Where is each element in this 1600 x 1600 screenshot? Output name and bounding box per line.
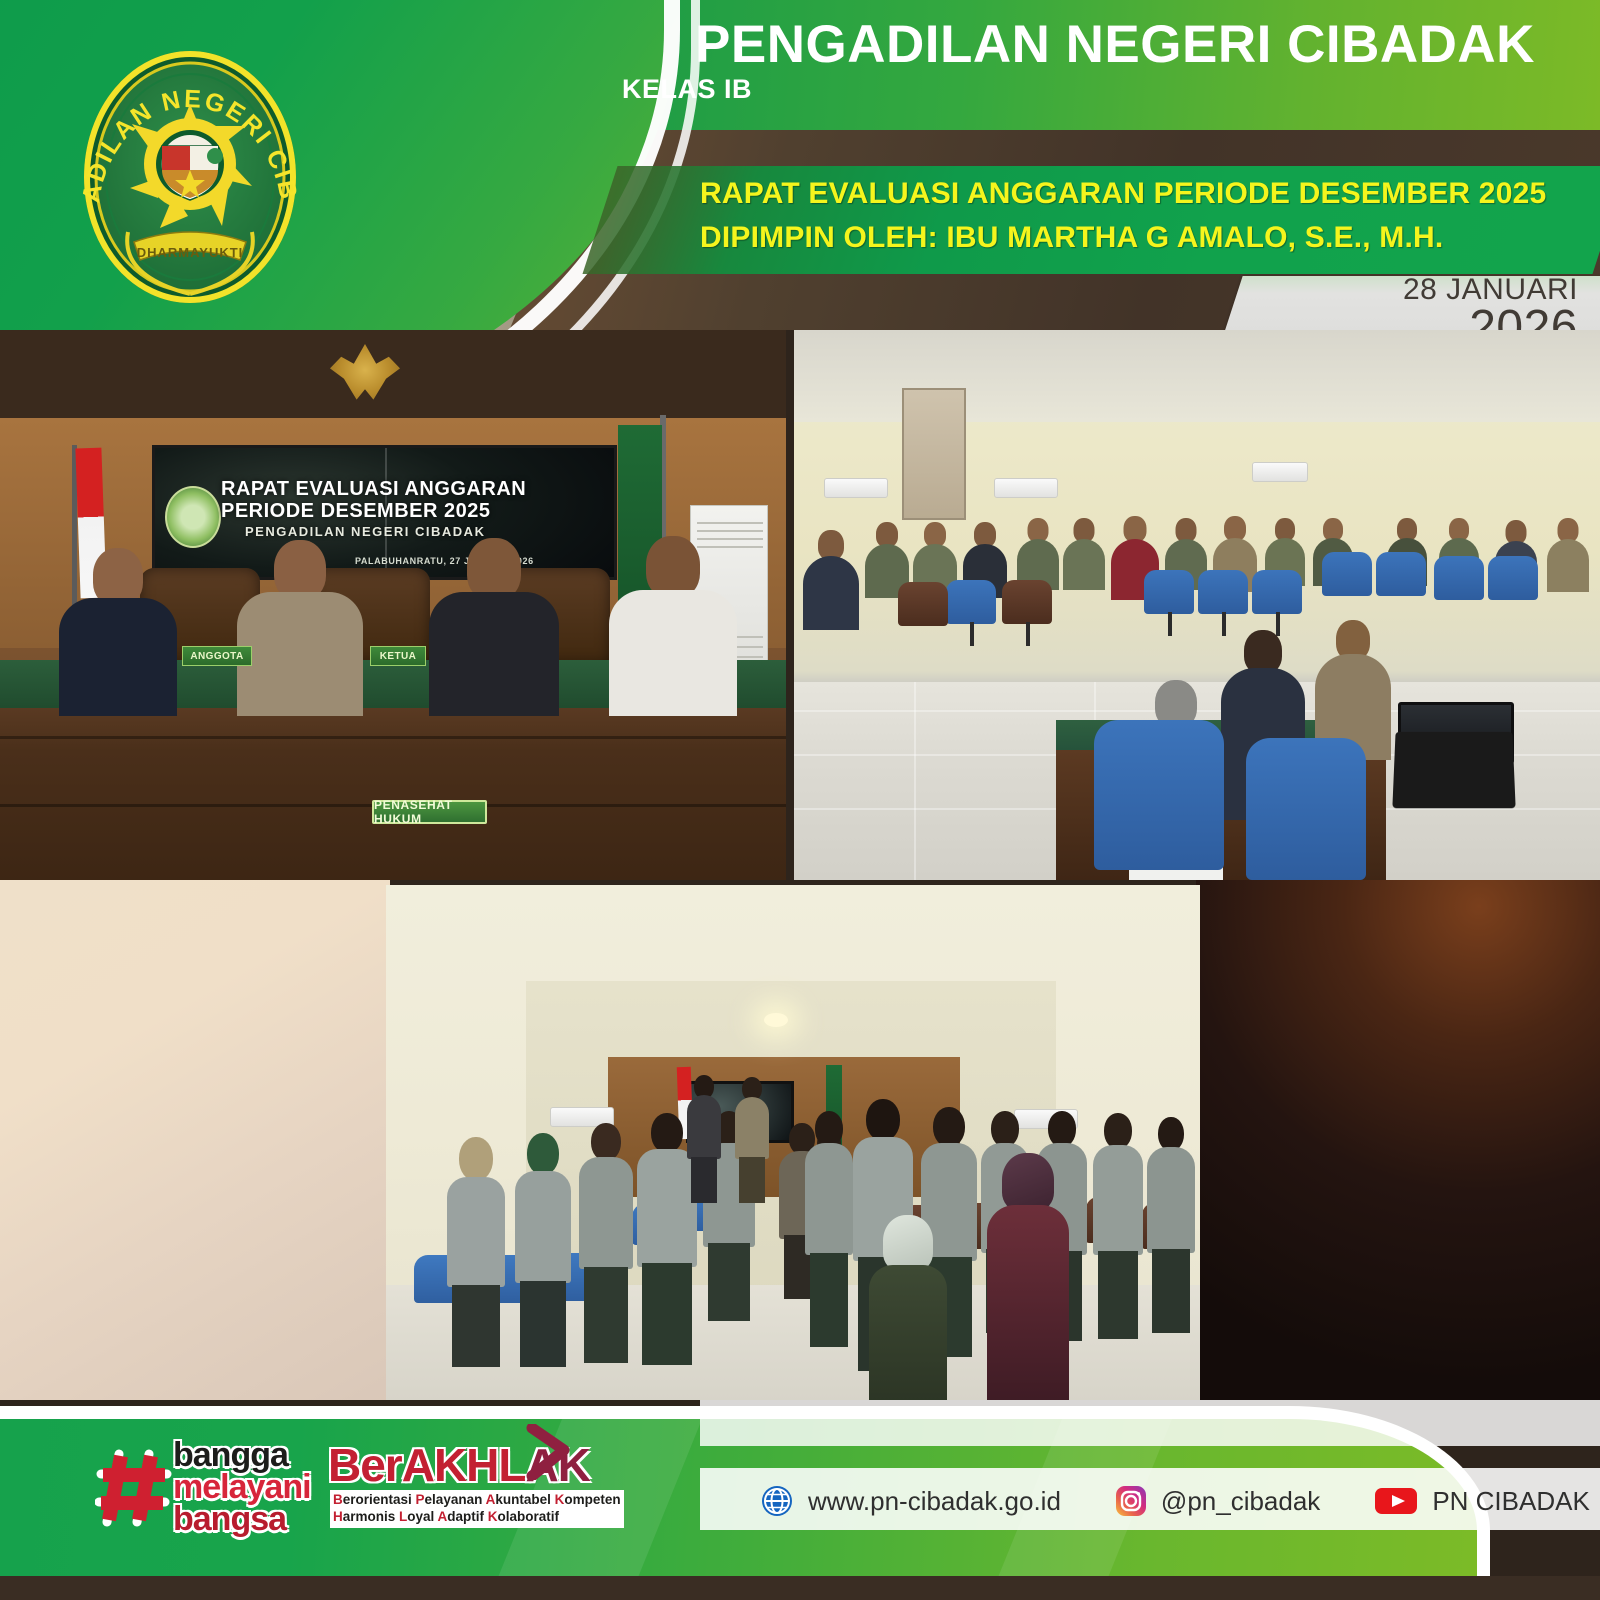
berakhlak-tagline: Berorientasi Pelayanan Akuntabel Kompete…	[330, 1490, 624, 1528]
bangga-line-2: melayani	[173, 1470, 311, 1504]
website-url: www.pn-cibadak.go.id	[808, 1486, 1061, 1517]
audience-photo	[794, 330, 1600, 880]
photo3-ceiling-light	[764, 1013, 788, 1027]
photo2-ac-unit-mid	[994, 478, 1058, 498]
nameplate-ketua: KETUA	[370, 646, 426, 666]
photo1-person-1	[58, 548, 178, 712]
photo-collage: RAPAT EVALUASI ANGGARAN PERIODE DESEMBER…	[0, 330, 1600, 1410]
hashtag-icon	[95, 1448, 175, 1528]
screen-emblem-icon	[165, 486, 221, 548]
photo3-hijab-person-maroon	[986, 1153, 1070, 1407]
berakhlak-tagline-line1: Berorientasi Pelayanan Akuntabel Kompete…	[333, 1492, 621, 1509]
footer-bottom-bar	[0, 1576, 1600, 1600]
contact-instagram[interactable]: @pn_cibadak	[1115, 1485, 1320, 1517]
screen-title-line1: RAPAT EVALUASI ANGGARAN	[221, 478, 621, 501]
screen-org-name: PENGADILAN NEGERI CIBADAK	[245, 524, 625, 539]
panel-table-photo: RAPAT EVALUASI ANGGARAN PERIODE DESEMBER…	[0, 330, 786, 880]
svg-text:DHARMAYUKTI: DHARMAYUKTI	[137, 245, 244, 260]
event-banner: RAPAT EVALUASI ANGGARAN PERIODE DESEMBER…	[700, 172, 1600, 259]
dharmayukti-banner: DHARMAYUKTI	[134, 232, 246, 260]
page-title: PENGADILAN NEGERI CIBADAK	[635, 18, 1595, 71]
bangga-line-1: bangga	[173, 1438, 288, 1472]
blurred-left-filler	[0, 880, 390, 1410]
globe-icon	[760, 1484, 794, 1518]
bangga-melayani-bangsa-logo: bangga melayani bangsa	[95, 1430, 310, 1545]
photo1-person-4	[608, 536, 738, 712]
photo1-desk-front	[0, 708, 786, 880]
photo2-ac-unit-right	[1252, 462, 1308, 482]
court-emblem-logo: PENGADILAN NEGERI CIBADAK	[76, 46, 304, 308]
page-subtitle: KELAS IB	[622, 74, 752, 105]
event-leader: DIPIMPIN OLEH: IBU MARTHA G AMALO, S.E.,…	[700, 216, 1600, 260]
blurred-right-filler	[1196, 880, 1600, 1410]
screen-title-line2: PERIODE DESEMBER 2025	[221, 500, 621, 523]
footer-contacts: www.pn-cibadak.go.id @pn_cibadak	[760, 1478, 1600, 1524]
photo3-hijab-person-white	[868, 1215, 948, 1410]
nameplate-penasehat-hukum: PENASEHAT HUKUM	[372, 800, 487, 824]
contact-youtube[interactable]: PN CIBADAK	[1374, 1485, 1590, 1517]
youtube-channel: PN CIBADAK	[1432, 1486, 1590, 1517]
contact-website[interactable]: www.pn-cibadak.go.id	[760, 1484, 1061, 1518]
photo2-foreground-chair-2	[1246, 738, 1366, 880]
photo2-foreground-chair	[1094, 720, 1224, 870]
photo2-ac-unit-left	[824, 478, 888, 498]
photo2-door	[902, 388, 966, 520]
footer-glass-band-top	[700, 1400, 1600, 1446]
standing-audience-photo	[386, 885, 1200, 1410]
event-title: RAPAT EVALUASI ANGGARAN PERIODE DESEMBER…	[700, 172, 1600, 216]
instagram-handle: @pn_cibadak	[1161, 1486, 1320, 1517]
bangga-line-3: bangsa	[173, 1502, 286, 1536]
photo2-laptop-base	[1392, 732, 1515, 808]
berakhlak-ber: Ber	[328, 1439, 402, 1491]
nameplate-anggota: ANGGOTA	[182, 646, 252, 666]
berakhlak-akhl: AKHL	[402, 1439, 526, 1491]
youtube-icon	[1374, 1485, 1418, 1517]
photo1-person-2	[236, 540, 364, 712]
instagram-icon	[1115, 1485, 1147, 1517]
poster-root: PENGADILAN NEGERI CIBADAK KELAS IB RAPAT…	[0, 0, 1600, 1600]
berakhlak-logo: BerAKHLAK Berorientasi Pelayanan Akuntab…	[328, 1438, 578, 1543]
photo1-person-3	[428, 538, 560, 712]
berakhlak-tagline-line2: Harmonis Loyal Adaptif Kolaboratif	[333, 1509, 621, 1526]
berakhlak-arrow-icon	[524, 1424, 570, 1480]
